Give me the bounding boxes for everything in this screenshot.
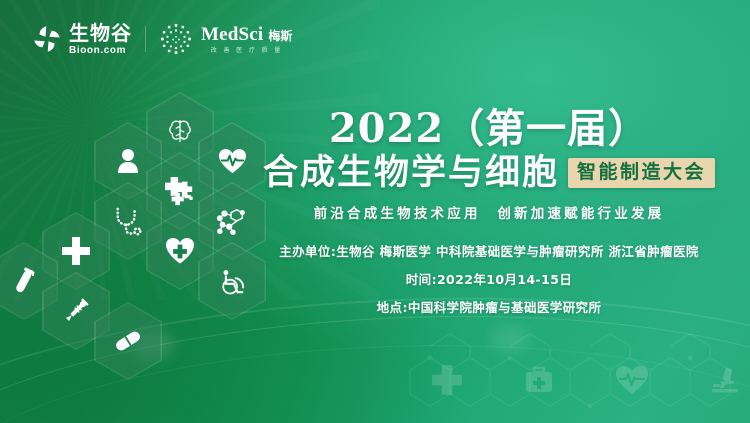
event-title-badge: 智能制造大会 <box>568 158 715 188</box>
medsci-en-name: MedSci <box>201 25 263 44</box>
medsci-cn-name: 梅斯 <box>268 30 292 42</box>
wheelchair-icon <box>218 267 246 295</box>
background-glow-right <box>490 325 530 353</box>
heart-pulse-watermark-icon <box>615 365 649 396</box>
bioon-logo[interactable]: 生物谷 Bioon.com <box>32 23 132 56</box>
plus-cross-icon <box>61 236 91 266</box>
location-line: 地点:中国科学院肿瘤与基础医学研究所 <box>377 297 602 316</box>
cross-watermark-icon <box>430 363 464 397</box>
event-year-line: 2022（第一届） <box>248 108 730 150</box>
logo-bar: 生物谷 Bioon.com <box>32 22 292 56</box>
brain-icon <box>165 116 195 146</box>
capsule-pill-icon <box>113 328 143 354</box>
event-tagline: 前沿合成生物技术应用 创新加速赋能行业发展 <box>248 202 730 222</box>
event-main-title: 合成生物学与细胞 <box>263 156 559 191</box>
heart-cross-icon <box>165 237 195 265</box>
stethoscope-icon <box>112 206 144 236</box>
microscope-watermark-icon <box>708 365 740 395</box>
dotted-circle-logo-icon <box>159 22 193 56</box>
syringe-icon <box>61 296 91 326</box>
event-info-block: 主办单位:生物谷 梅斯医学 中科院基础医学与肿瘤研究所 浙江省肿瘤医院 时间:2… <box>248 241 730 316</box>
heart-pulse-icon <box>218 148 247 175</box>
hexagon-icon-cluster <box>0 92 250 392</box>
medical-bag-watermark-icon <box>523 364 555 396</box>
date-line: 时间:2022年10月14-15日 <box>406 269 572 288</box>
medsci-logo[interactable]: MedSci 梅斯 改 善 医 疗 质 量 <box>159 22 292 56</box>
pinwheel-logo-icon <box>32 24 62 54</box>
hex-capsule-pill-icon <box>94 302 162 380</box>
test-tube-icon <box>9 266 39 296</box>
logo-divider <box>145 26 146 52</box>
title-block: 2022（第一届） 合成生物学与细胞 智能制造大会 前沿合成生物技术应用 创新加… <box>248 108 730 316</box>
bioon-en-name: Bioon.com <box>69 46 132 56</box>
watermark-icon-row <box>430 352 740 408</box>
medical-cross-icon <box>164 176 196 206</box>
event-main-title-row: 合成生物学与细胞 智能制造大会 <box>248 156 730 191</box>
event-poster: 生物谷 Bioon.com <box>0 0 750 423</box>
person-icon <box>115 147 141 175</box>
molecule-icon <box>216 206 248 236</box>
medsci-subtitle: 改 善 医 疗 质 量 <box>201 48 292 54</box>
organizer-line: 主办单位:生物谷 梅斯医学 中科院基础医学与肿瘤研究所 浙江省肿瘤医院 <box>279 241 699 260</box>
bioon-cn-name: 生物谷 <box>69 23 132 43</box>
hex-network-pattern <box>400 330 750 423</box>
